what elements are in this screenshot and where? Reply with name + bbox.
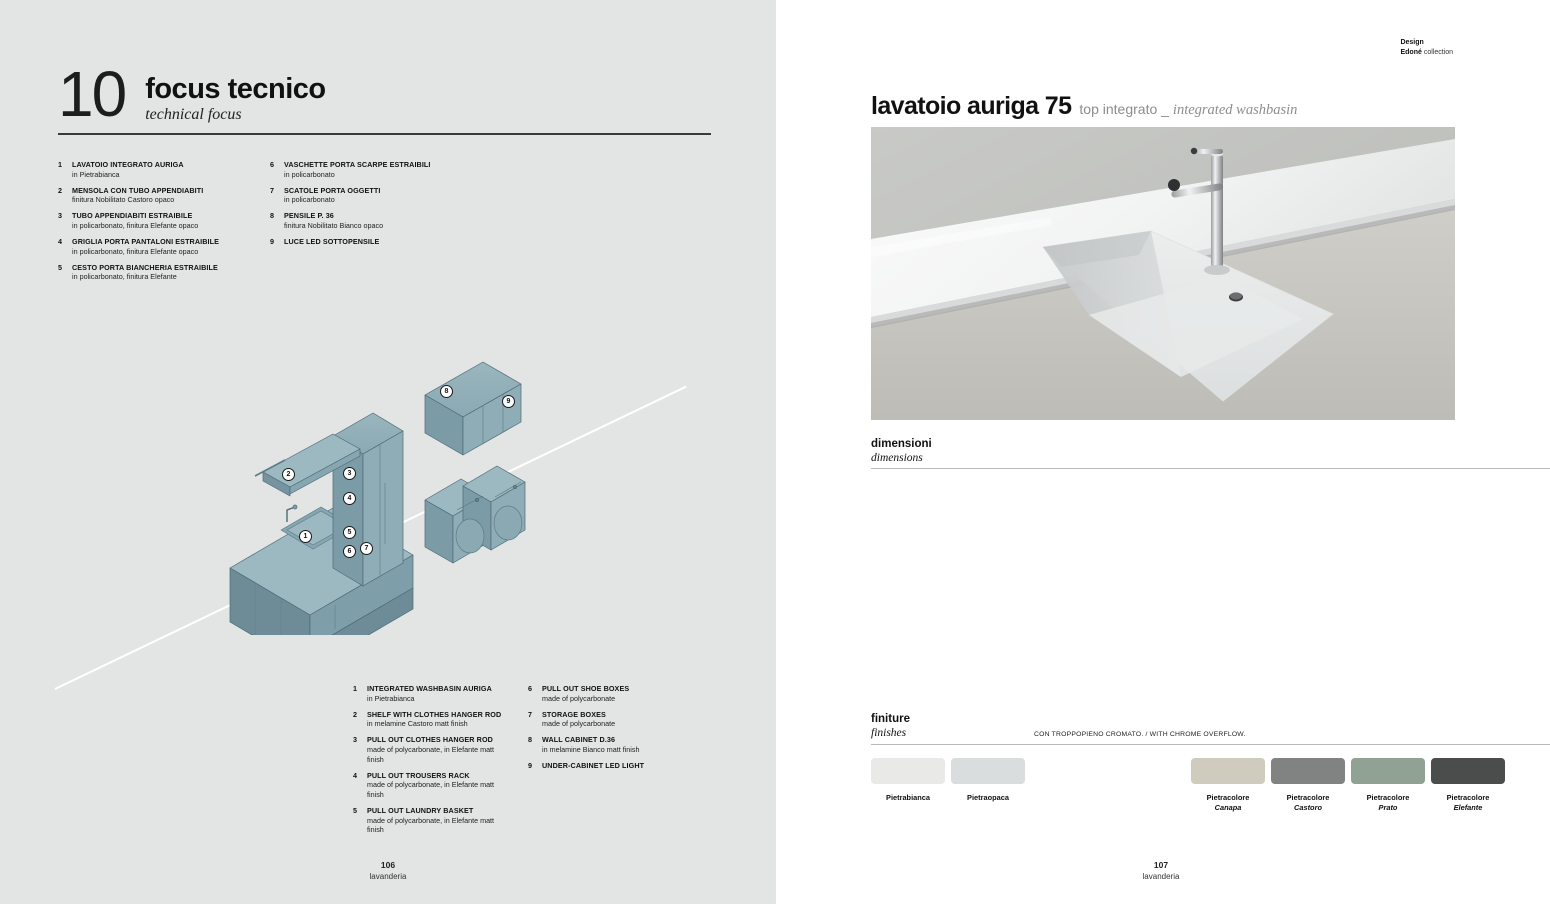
callout-7[interactable]: 7 <box>360 542 373 555</box>
legend-item: 6 PULL OUT SHOE BOXES made of polycarbon… <box>528 684 683 703</box>
legend-item: 1 LAVATOIO INTEGRATO AURIGA in Pietrabia… <box>58 160 250 179</box>
legend-desc: in policarbonato, finitura Elefante opac… <box>72 221 198 231</box>
legend-title: SHELF WITH CLOTHES HANGER ROD <box>367 710 501 720</box>
legend-title: WALL CABINET D.36 <box>542 735 639 745</box>
legend-title: UNDER-CABINET LED LIGHT <box>542 761 644 771</box>
legend-desc: made of polycarbonate, in Elefante matt … <box>367 780 508 799</box>
finishes-rule <box>871 744 1550 745</box>
page-number: 107 <box>1101 860 1221 871</box>
chapter-subtitle: technical focus <box>145 105 325 124</box>
finishes-label-en: finishes <box>871 726 910 740</box>
swatch-pietracolore-prato[interactable]: Pietracolore Prato <box>1348 758 1428 813</box>
callout-3[interactable]: 3 <box>343 467 356 480</box>
legend-column-right: 6 PULL OUT SHOE BOXES made of polycarbon… <box>528 684 683 841</box>
legend-number: 6 <box>270 160 284 179</box>
legend-item: 9 UNDER-CABINET LED LIGHT <box>528 761 683 771</box>
swatch-pietracolore-canapa[interactable]: Pietracolore Canapa <box>1188 758 1268 813</box>
legend-desc: in melamine Castoro matt finish <box>367 719 501 729</box>
footer-left: 106 lavanderia <box>328 860 448 882</box>
legend-title: CESTO PORTA BIANCHERIA ESTRAIBILE <box>72 263 218 273</box>
left-page: 10 focus tecnico technical focus 1 LAVAT… <box>0 0 776 904</box>
product-name: lavatoio auriga 75 <box>871 92 1071 121</box>
legend-column-left: 1 INTEGRATED WASHBASIN AURIGA in Pietrab… <box>353 684 508 841</box>
catalog-spread: 10 focus tecnico technical focus 1 LAVAT… <box>0 0 1550 904</box>
legend-number: 4 <box>58 237 72 256</box>
swatch-label: Pietracolore <box>1268 793 1348 803</box>
legend-number: 3 <box>353 735 367 764</box>
legend-title: PENSILE P. 36 <box>284 211 383 221</box>
chapter-number: 10 <box>58 62 125 126</box>
legend-title: PULL OUT TROUSERS RACK <box>367 771 508 781</box>
legend-desc: in melamine Bianco matt finish <box>542 745 639 755</box>
dimensions-heading: dimensioni dimensions <box>871 437 932 465</box>
legend-number: 4 <box>353 771 367 800</box>
swatch-label-2: Prato <box>1348 803 1428 813</box>
chapter-header: 10 focus tecnico technical focus <box>58 62 713 126</box>
finish-swatches: Pietrabianca Pietraopaca Pietracolore Ca… <box>868 758 1508 813</box>
washbasin-photo-svg <box>871 127 1455 420</box>
legend-title: MENSOLA CON TUBO APPENDIABITI <box>72 186 203 196</box>
callout-4[interactable]: 4 <box>343 492 356 505</box>
legend-english: 1 INTEGRATED WASHBASIN AURIGA in Pietrab… <box>353 684 683 841</box>
swatch-label: Pietracolore <box>1428 793 1508 803</box>
swatch-chip[interactable] <box>871 758 945 784</box>
callout-6[interactable]: 6 <box>343 545 356 558</box>
finishes-label-it: finiture <box>871 712 910 726</box>
legend-number: 6 <box>528 684 542 703</box>
callout-5[interactable]: 5 <box>343 526 356 539</box>
legend-title: VASCHETTE PORTA SCARPE ESTRAIBILI <box>284 160 431 170</box>
legend-number: 2 <box>353 710 367 729</box>
swatch-label: Pietracolore <box>1188 793 1268 803</box>
legend-title: PULL OUT CLOTHES HANGER ROD <box>367 735 508 745</box>
page-number: 106 <box>328 860 448 871</box>
chapter-title: focus tecnico <box>145 74 325 105</box>
legend-number: 7 <box>270 186 284 205</box>
dimensions-label-en: dimensions <box>871 451 932 465</box>
legend-column-right: 6 VASCHETTE PORTA SCARPE ESTRAIBILI in p… <box>270 160 462 288</box>
swatch-label: Pietrabianca <box>868 793 948 803</box>
swatch-label-2: Elefante <box>1428 803 1508 813</box>
legend-desc: made of polycarbonate, in Elefante matt … <box>367 816 508 835</box>
legend-title: LUCE LED SOTTOPENSILE <box>284 237 379 247</box>
product-subtitle-en: integrated washbasin <box>1173 102 1297 119</box>
right-page: Design Edoné collection lavatoio auriga … <box>776 0 1550 904</box>
legend-number: 1 <box>58 160 72 179</box>
legend-italian: 1 LAVATOIO INTEGRATO AURIGA in Pietrabia… <box>58 160 478 288</box>
legend-desc: finitura Nobilitato Castoro opaco <box>72 195 203 205</box>
swatch-chip[interactable] <box>1431 758 1505 784</box>
footer-right: 107 lavanderia <box>1101 860 1221 882</box>
legend-title: LAVATOIO INTEGRATO AURIGA <box>72 160 184 170</box>
legend-number: 9 <box>270 237 284 247</box>
legend-desc: in policarbonato <box>284 170 431 180</box>
legend-item: 9 LUCE LED SOTTOPENSILE <box>270 237 462 247</box>
legend-number: 7 <box>528 710 542 729</box>
legend-title: SCATOLE PORTA OGGETTI <box>284 186 380 196</box>
swatch-chip[interactable] <box>951 758 1025 784</box>
legend-item: 7 STORAGE BOXES made of polycarbonate <box>528 710 683 729</box>
swatch-pietracolore-elefante[interactable]: Pietracolore Elefante <box>1428 758 1508 813</box>
legend-number: 3 <box>58 211 72 230</box>
page-section: lavanderia <box>1101 871 1221 882</box>
swatch-chip[interactable] <box>1271 758 1345 784</box>
legend-title: PULL OUT LAUNDRY BASKET <box>367 806 508 816</box>
swatch-pietraopaca[interactable]: Pietraopaca <box>948 758 1028 813</box>
legend-title: PULL OUT SHOE BOXES <box>542 684 629 694</box>
legend-desc: finitura Nobilitato Bianco opaco <box>284 221 383 231</box>
finishes-heading: finiture finishes <box>871 712 910 740</box>
legend-desc: in policarbonato, finitura Elefante opac… <box>72 247 219 257</box>
design-brand: Edoné <box>1400 49 1421 56</box>
legend-title: STORAGE BOXES <box>542 710 615 720</box>
legend-desc: in policarbonato <box>284 195 380 205</box>
legend-desc: in Pietrabianca <box>367 694 492 704</box>
legend-item: 7 SCATOLE PORTA OGGETTI in policarbonato <box>270 186 462 205</box>
legend-item: 8 WALL CABINET D.36 in melamine Bianco m… <box>528 735 683 754</box>
dimensions-label-it: dimensioni <box>871 437 932 451</box>
swatch-spacer <box>1028 758 1188 813</box>
legend-desc: in policarbonato, finitura Elefante <box>72 272 218 282</box>
isometric-laundry-diagram: 2 3 4 5 6 7 1 8 9 <box>225 350 545 635</box>
legend-desc: made of polycarbonate <box>542 719 615 729</box>
legend-number: 1 <box>353 684 367 703</box>
legend-number: 2 <box>58 186 72 205</box>
callout-2[interactable]: 2 <box>282 468 295 481</box>
design-credit: Design Edoné collection <box>1400 38 1453 58</box>
callout-8[interactable]: 8 <box>440 385 453 398</box>
legend-number: 9 <box>528 761 542 771</box>
swatch-chip[interactable] <box>1191 758 1265 784</box>
legend-item: 4 GRIGLIA PORTA PANTALONI ESTRAIBILE in … <box>58 237 250 256</box>
legend-item: 8 PENSILE P. 36 finitura Nobilitato Bian… <box>270 211 462 230</box>
legend-item: 3 TUBO APPENDIABITI ESTRAIBILE in polica… <box>58 211 250 230</box>
legend-item: 5 PULL OUT LAUNDRY BASKET made of polyca… <box>353 806 508 835</box>
swatch-label: Pietracolore <box>1348 793 1428 803</box>
legend-item: 2 MENSOLA CON TUBO APPENDIABITI finitura… <box>58 186 250 205</box>
legend-desc: made of polycarbonate, in Elefante matt … <box>367 745 508 764</box>
legend-number: 5 <box>353 806 367 835</box>
legend-number: 5 <box>58 263 72 282</box>
swatch-pietracolore-castoro[interactable]: Pietracolore Castoro <box>1268 758 1348 813</box>
swatch-pietrabianca[interactable]: Pietrabianca <box>868 758 948 813</box>
swatch-chip[interactable] <box>1351 758 1425 784</box>
legend-column-left: 1 LAVATOIO INTEGRATO AURIGA in Pietrabia… <box>58 160 250 288</box>
legend-desc: made of polycarbonate <box>542 694 629 704</box>
page-section: lavanderia <box>328 871 448 882</box>
chapter-rule <box>58 133 711 135</box>
legend-title: GRIGLIA PORTA PANTALONI ESTRAIBILE <box>72 237 219 247</box>
design-label: Design <box>1400 39 1423 46</box>
legend-item: 4 PULL OUT TROUSERS RACK made of polycar… <box>353 771 508 800</box>
product-subtitle-it: top integrato _ <box>1079 101 1169 117</box>
product-photo <box>871 127 1455 420</box>
legend-item: 5 CESTO PORTA BIANCHERIA ESTRAIBILE in p… <box>58 263 250 282</box>
legend-item: 6 VASCHETTE PORTA SCARPE ESTRAIBILI in p… <box>270 160 462 179</box>
product-title: lavatoio auriga 75 top integrato _ integ… <box>871 92 1297 121</box>
legend-desc: in Pietrabianca <box>72 170 184 180</box>
swatch-label-2: Castoro <box>1268 803 1348 813</box>
legend-number: 8 <box>270 211 284 230</box>
swatch-label: Pietraopaca <box>948 793 1028 803</box>
legend-title: TUBO APPENDIABITI ESTRAIBILE <box>72 211 198 221</box>
legend-title: INTEGRATED WASHBASIN AURIGA <box>367 684 492 694</box>
callout-9[interactable]: 9 <box>502 395 515 408</box>
legend-item: 1 INTEGRATED WASHBASIN AURIGA in Pietrab… <box>353 684 508 703</box>
design-collection: collection <box>1424 49 1453 56</box>
isometric-furniture-svg <box>225 350 545 635</box>
finishes-note: CON TROPPOPIENO CROMATO. / WITH CHROME O… <box>1034 731 1246 738</box>
legend-item: 2 SHELF WITH CLOTHES HANGER ROD in melam… <box>353 710 508 729</box>
legend-item: 3 PULL OUT CLOTHES HANGER ROD made of po… <box>353 735 508 764</box>
swatch-label-2: Canapa <box>1188 803 1268 813</box>
legend-number: 8 <box>528 735 542 754</box>
callout-1[interactable]: 1 <box>299 530 312 543</box>
dimensions-rule <box>871 468 1550 469</box>
